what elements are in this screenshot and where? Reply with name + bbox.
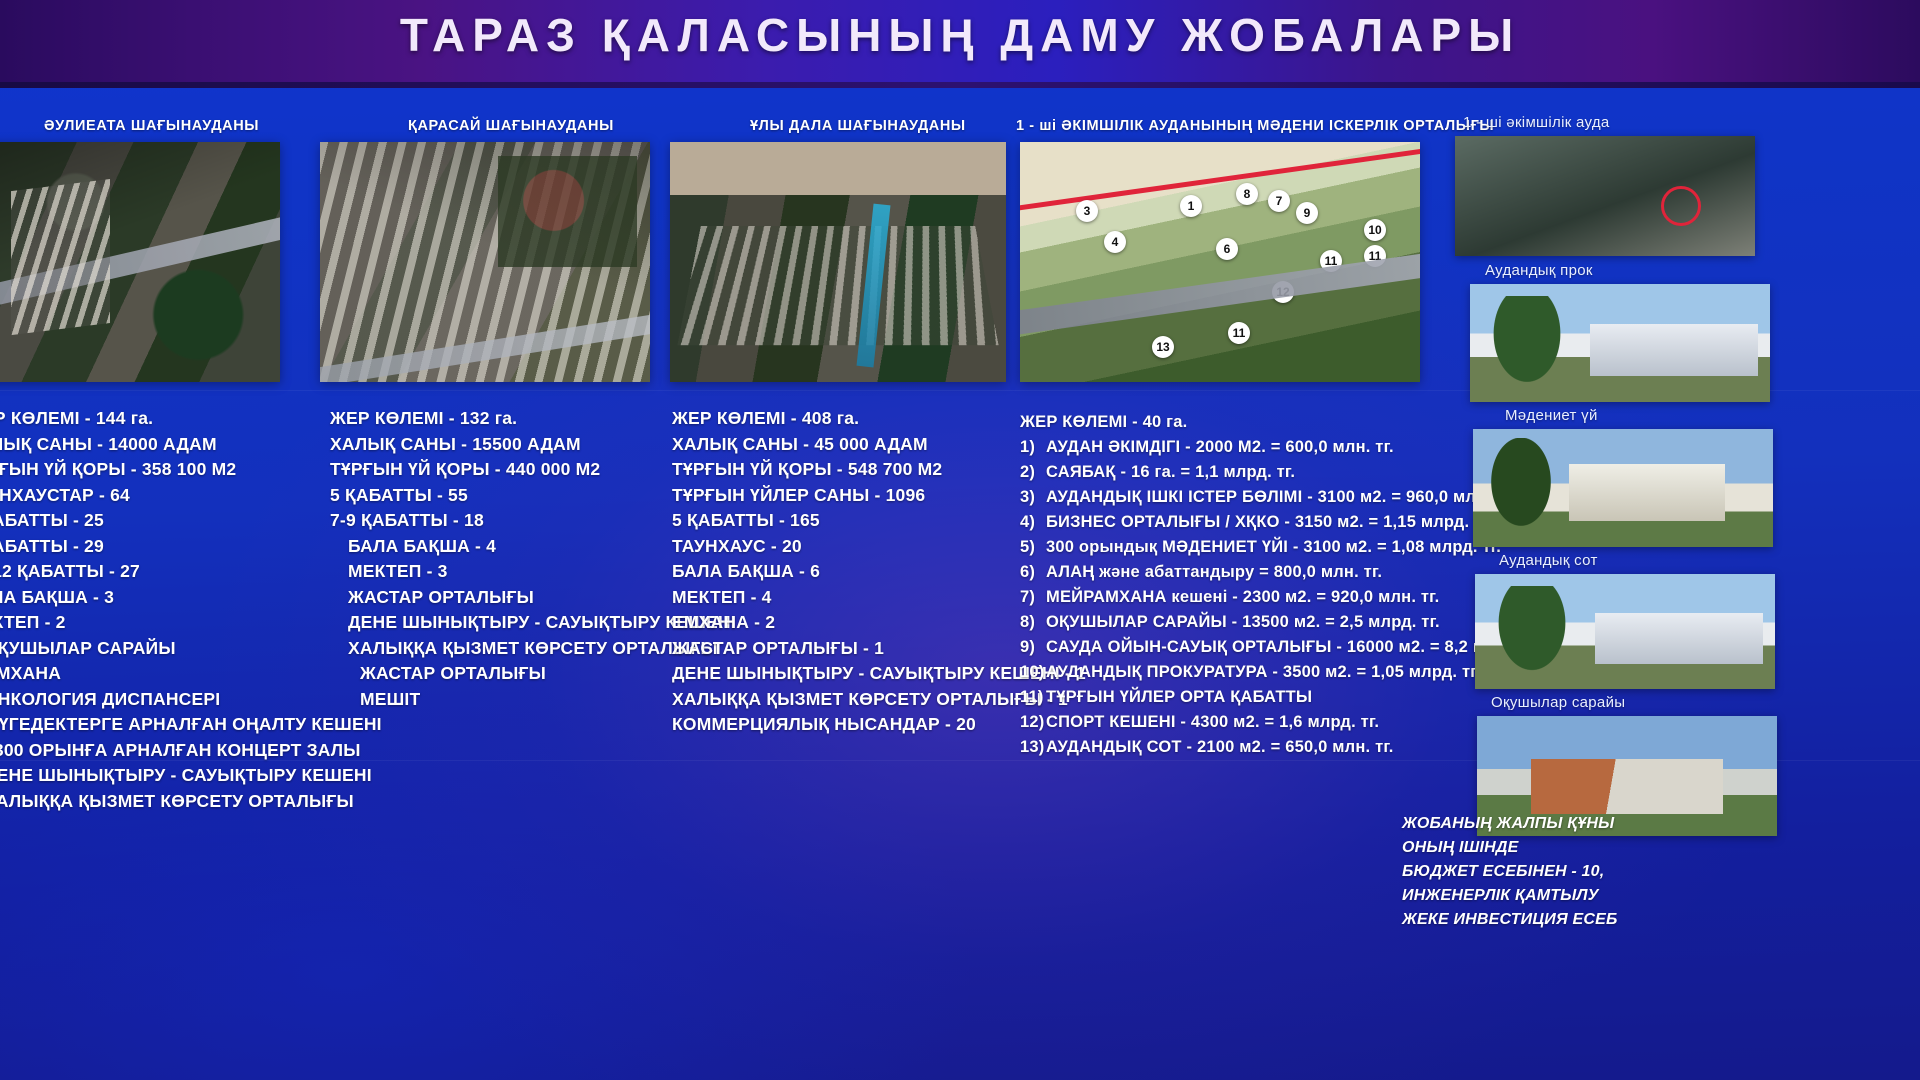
list-item-label: 300 орындық МӘДЕНИЕТ ҮЙІ - 3100 м2. = 1,… (1046, 538, 1501, 556)
sidebar-photo-1 (1455, 136, 1755, 256)
list-item: 4)БИЗНЕС ОРТАЛЫҒЫ / ХҚКО - 3150 м2. = 1,… (1020, 510, 1545, 535)
list-item-label: АУДАН ӘКІМДІГІ - 2000 М2. = 600,0 млн. т… (1046, 438, 1394, 456)
list-item-number: 2) (1020, 460, 1046, 485)
list-item: МҮГЕДЕКТЕРГЕ АРНАЛҒАН ОҢАЛТУ КЕШЕНІ (0, 712, 382, 738)
poster-title-bar: ТАРАЗ ҚАЛАСЫНЫҢ ДАМУ ЖОБАЛАРЫ (0, 0, 1920, 88)
list-item-label: ОҚУШЫЛАР САРАЙЫ - 13500 м2. = 2,5 млрд. … (1046, 613, 1440, 631)
list-item: ДЕНЕ ШЫНЫҚТЫРУ - САУЫҚТЫРУ КЕШЕНІ (0, 763, 382, 789)
list-item: 1300 ОРЫНҒА АРНАЛҒАН КОНЦЕРТ ЗАЛЫ (0, 738, 382, 764)
list-item: 12)СПОРТ КЕШЕНІ - 4300 м2. = 1,6 млрд. т… (1020, 710, 1545, 735)
list-item: 9)САУДА ОЙЫН-САУЫҚ ОРТАЛЫҒЫ - 16000 м2. … (1020, 635, 1545, 660)
sidebar-caption-3: Мәдениет үй (1505, 407, 1598, 424)
project-summary: ЖОБАНЫҢ ЖАЛПЫ ҚҰНЫ ОНЫҢ ІШІНДЕ БЮДЖЕТ ЕС… (1402, 812, 1617, 932)
list-item-label: ТҰРҒЫН ҮЙЛЕР ОРТА ҚАБАТТЫ (1046, 688, 1312, 706)
list-item: ХАЛЫҚҚА ҚЫЗМЕТ КӨРСЕТУ ОРТАЛЫҒЫ (0, 789, 382, 815)
list-item: ОҚУШЫЛАР САРАЙЫ (0, 636, 382, 662)
sidebar-caption-4: Аудандық сот (1499, 552, 1598, 569)
list-item-number: 13) (1020, 735, 1046, 760)
summary-line: БЮДЖЕТ ЕСЕБІНЕН - 10, (1402, 860, 1617, 884)
list-item-label: БИЗНЕС ОРТАЛЫҒЫ / ХҚКО - 3150 м2. = 1,15… (1046, 513, 1493, 531)
list-item: ХАЛЫҚ САНЫ - 14000 АДАМ (0, 432, 382, 458)
list-item-number: 1) (1020, 435, 1046, 460)
list-item: 7)МЕЙРАМХАНА кешені - 2300 м2. = 920,0 м… (1020, 585, 1545, 610)
sidebar-caption-5: Оқушылар сарайы (1491, 694, 1625, 711)
summary-line: ИНЖЕНЕРЛІК ҚАМТЫЛУ (1402, 884, 1617, 908)
aerial-photo-auliyeata (0, 142, 280, 382)
map-marker: 8 (1236, 183, 1258, 205)
poster-board: ТАРАЗ ҚАЛАСЫНЫҢ ДАМУ ЖОБАЛАРЫ ӘУЛИЕАТА Ш… (0, 0, 1920, 1080)
column-header-1: ӘУЛИЕАТА ШАҒЫНАУДАНЫ (44, 118, 259, 134)
list-item: 5)300 орындық МӘДЕНИЕТ ҮЙІ - 3100 м2. = … (1020, 535, 1545, 560)
map-marker: 9 (1296, 202, 1318, 224)
list-item: 6 ҚАБАТТЫ - 29 (0, 534, 382, 560)
list-item: МЕКТЕП - 2 (0, 610, 382, 636)
list-item-label: САУДА ОЙЫН-САУЫҚ ОРТАЛЫҒЫ - 16000 м2. = … (1046, 638, 1545, 656)
masterplan-map-admin-center: 3 1 8 7 9 4 6 10 11 11 12 11 13 (1020, 142, 1420, 382)
list-item: ЕМХАНА (0, 661, 382, 687)
list-item: 5 ҚАБАТТЫ - 25 (0, 508, 382, 534)
list-item-number: 12) (1020, 710, 1046, 735)
list-item: ОНКОЛОГИЯ ДИСПАНСЕРІ (0, 687, 382, 713)
sidebar-caption-2: Аудандық прок (1485, 262, 1593, 279)
aerial-photo-ulydala (670, 142, 1006, 382)
summary-line: ЖОБАНЫҢ ЖАЛПЫ ҚҰНЫ (1402, 812, 1617, 836)
list-item-number: 8) (1020, 610, 1046, 635)
list-item: 11)ТҰРҒЫН ҮЙЛЕР ОРТА ҚАБАТТЫ (1020, 685, 1545, 710)
list-item: ЖЕР КӨЛЕМІ - 144 га. (0, 406, 382, 432)
list-item: 7 - 12 ҚАБАТТЫ - 27 (0, 559, 382, 585)
list-item-number: 9) (1020, 635, 1046, 660)
list-item: ТАУНХАУСТАР - 64 (0, 483, 382, 509)
sidebar-caption-1: 1 - ші әкімшілік ауда (1463, 114, 1610, 131)
map-marker: 11 (1228, 322, 1250, 344)
list-item-number: 11) (1020, 685, 1046, 710)
list-item-number: 7) (1020, 585, 1046, 610)
list-item-label: АУДАНДЫҚ СОТ - 2100 м2. = 650,0 млн. тг. (1046, 738, 1394, 756)
list-item-number: 6) (1020, 560, 1046, 585)
column-header-2: ҚАРАСАЙ ШАҒЫНАУДАНЫ (408, 118, 614, 134)
list-auliyeata: ЖЕР КӨЛЕМІ - 144 га. ХАЛЫҚ САНЫ - 14000 … (0, 406, 382, 814)
map-marker: 3 (1076, 200, 1098, 222)
map-marker: 11 (1320, 250, 1342, 272)
aerial-photo-karasai (320, 142, 650, 382)
list-item: 6)АЛАҢ және абаттандыру = 800,0 млн. тг. (1020, 560, 1545, 585)
list-item-label: МЕЙРАМХАНА кешені - 2300 м2. = 920,0 млн… (1046, 588, 1439, 606)
list-item-number: 4) (1020, 510, 1046, 535)
map-marker: 10 (1364, 219, 1386, 241)
map-marker: 1 (1180, 195, 1202, 217)
list-item-label: АУДАНДЫҚ ПРОКУРАТУРА - 3500 м2. = 1,05 м… (1046, 663, 1480, 681)
list-item: 1)АУДАН ӘКІМДІГІ - 2000 М2. = 600,0 млн.… (1020, 435, 1545, 460)
page-title: ТАРАЗ ҚАЛАСЫНЫҢ ДАМУ ЖОБАЛАРЫ (0, 8, 1920, 62)
sidebar-photo-2 (1470, 284, 1770, 402)
list-item-number: 5) (1020, 535, 1046, 560)
list-item-label: САЯБАҚ - 16 га. = 1,1 млрд. тг. (1046, 463, 1295, 481)
list-item: 3)АУДАНДЫҚ ІШКІ ІСТЕР БӨЛІМІ - 3100 м2. … (1020, 485, 1545, 510)
column-header-3: ҰЛЫ ДАЛА ШАҒЫНАУДАНЫ (750, 118, 966, 134)
list-item: 13)АУДАНДЫҚ СОТ - 2100 м2. = 650,0 млн. … (1020, 735, 1545, 760)
list-item: 2)САЯБАҚ - 16 га. = 1,1 млрд. тг. (1020, 460, 1545, 485)
map-marker: 11 (1364, 245, 1386, 267)
list-item-label: СПОРТ КЕШЕНІ - 4300 м2. = 1,6 млрд. тг. (1046, 713, 1379, 731)
column-header-4: 1 - ші ӘКІМШІЛІК АУДАНЫНЫҢ МӘДЕНИ ІСКЕРЛ… (1016, 118, 1494, 134)
map-marker: 7 (1268, 190, 1290, 212)
map-marker: 12 (1272, 281, 1294, 303)
map-marker: 6 (1216, 238, 1238, 260)
list-intro: ЖЕР КӨЛЕМІ - 40 га. (1020, 410, 1545, 435)
summary-line: ЖЕКЕ ИНВЕСТИЦИЯ ЕСЕБ (1402, 908, 1617, 932)
list-admin-center: ЖЕР КӨЛЕМІ - 40 га. 1)АУДАН ӘКІМДІГІ - 2… (1020, 410, 1545, 760)
map-marker: 4 (1104, 231, 1126, 253)
list-item: 10)АУДАНДЫҚ ПРОКУРАТУРА - 3500 м2. = 1,0… (1020, 660, 1545, 685)
map-marker: 13 (1152, 336, 1174, 358)
list-item-number: 3) (1020, 485, 1046, 510)
list-item: БАЛА БАҚША - 3 (0, 585, 382, 611)
list-item: 8)ОҚУШЫЛАР САРАЙЫ - 13500 м2. = 2,5 млрд… (1020, 610, 1545, 635)
sidebar-photo-4 (1475, 574, 1775, 689)
summary-line: ОНЫҢ ІШІНДЕ (1402, 836, 1617, 860)
list-item-label: АУДАНДЫҚ ІШКІ ІСТЕР БӨЛІМІ - 3100 м2. = … (1046, 488, 1506, 506)
sidebar-photo-3 (1473, 429, 1773, 547)
list-item-number: 10) (1020, 660, 1046, 685)
list-item-label: АЛАҢ және абаттандыру = 800,0 млн. тг. (1046, 563, 1382, 581)
list-item: ТҰРҒЫН ҮЙ ҚОРЫ - 358 100 М2 (0, 457, 382, 483)
